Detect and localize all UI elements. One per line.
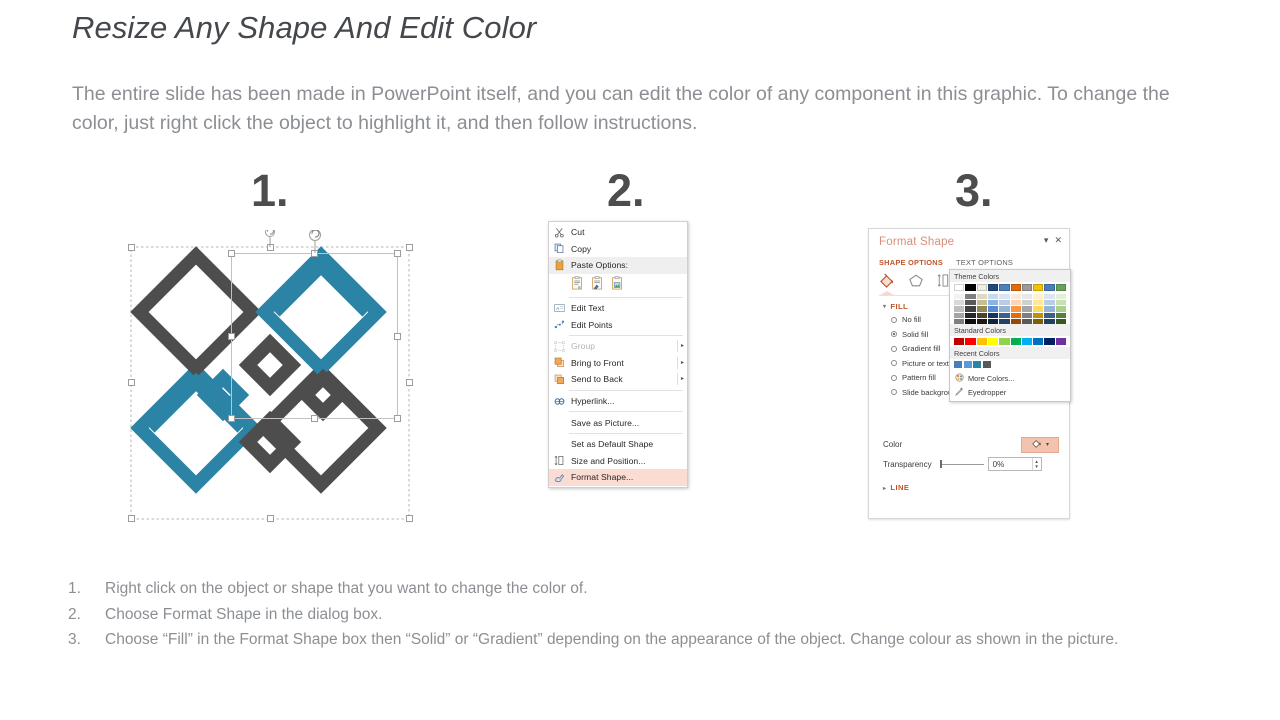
chevron-right-icon: ▸ <box>883 485 886 492</box>
menu-item-label: Copy <box>571 244 677 254</box>
theme-color-swatch[interactable] <box>1011 294 1021 299</box>
list-item: 3. Choose “Fill” in the Format Shape box… <box>68 627 1273 653</box>
standard-color-swatch[interactable] <box>977 338 987 345</box>
theme-color-swatch[interactable] <box>1056 306 1066 311</box>
menu-item-edit-points[interactable]: Edit Points ▸ <box>549 316 687 333</box>
paste-picture-icon[interactable] <box>611 276 624 292</box>
shape-graphic-selected[interactable] <box>120 230 420 525</box>
theme-color-swatch[interactable] <box>977 319 987 324</box>
menu-item-label: Paste Options: <box>571 260 677 270</box>
theme-colors-header: Theme Colors <box>950 270 1070 282</box>
tab-shape-options[interactable]: SHAPE OPTIONS <box>879 258 943 267</box>
theme-color-swatch[interactable] <box>1056 313 1066 318</box>
theme-color-swatch[interactable] <box>999 306 1009 311</box>
standard-color-swatch[interactable] <box>1022 338 1032 345</box>
theme-color-swatch[interactable] <box>999 300 1009 305</box>
theme-color-swatch[interactable] <box>988 300 998 305</box>
theme-color-swatch[interactable] <box>965 294 975 299</box>
recent-color-swatch[interactable] <box>954 361 962 368</box>
edit-points-icon <box>552 318 567 331</box>
standard-color-swatch[interactable] <box>1056 338 1066 345</box>
group-icon <box>552 340 567 353</box>
menu-item-label: Cut <box>571 227 677 237</box>
theme-color-swatch[interactable] <box>1033 313 1043 318</box>
menu-item-size-and-position[interactable]: Size and Position... ▸ <box>549 453 687 470</box>
menu-item-group[interactable]: Group ▸ <box>549 338 687 355</box>
theme-color-swatch[interactable] <box>1022 300 1032 305</box>
svg-text:a: a <box>578 285 581 289</box>
eyedropper-icon <box>954 387 964 398</box>
radio-label: Gradient fill <box>902 344 940 353</box>
theme-color-swatch[interactable] <box>977 306 987 311</box>
instruction-list: 1. Right click on the object or shape th… <box>68 576 1273 653</box>
menu-item-send-to-back[interactable]: Send to Back ▸ <box>549 371 687 388</box>
list-item-text: Choose Format Shape in the dialog box. <box>105 602 1273 628</box>
theme-color-swatch[interactable] <box>954 300 964 305</box>
theme-color-swatch[interactable] <box>988 313 998 318</box>
color-row[interactable]: Color ▾ <box>883 435 1059 454</box>
page-subtitle: The entire slide has been made in PowerP… <box>72 80 1217 138</box>
theme-color-swatch[interactable] <box>1011 306 1021 311</box>
theme-color-swatch[interactable] <box>954 284 964 291</box>
menu-separator <box>569 433 683 434</box>
menu-item-copy[interactable]: Copy ▸ <box>549 241 687 258</box>
line-section-header[interactable]: ▸LINE <box>883 483 909 492</box>
menu-separator <box>569 411 683 412</box>
page-title: Resize Any Shape And Edit Color <box>72 10 536 46</box>
theme-color-swatch[interactable] <box>965 313 975 318</box>
chevron-down-icon[interactable]: ▾ <box>1044 235 1049 246</box>
theme-color-swatch[interactable] <box>999 284 1009 291</box>
spinner-arrows[interactable]: ▲▼ <box>1032 458 1041 470</box>
menu-item-paste-options[interactable]: Paste Options: ▸ <box>549 257 687 274</box>
pentagon-effects-icon[interactable] <box>908 273 924 290</box>
step-number-3: 3. <box>955 168 993 213</box>
copy-icon <box>552 242 567 255</box>
radio-label: Pattern fill <box>902 373 936 382</box>
theme-color-swatch[interactable] <box>999 294 1009 299</box>
menu-item-edit-text[interactable]: A Edit Text ▸ <box>549 300 687 317</box>
menu-item-label: Save as Picture... <box>571 418 677 428</box>
standard-color-swatch[interactable] <box>988 338 998 345</box>
list-item-text: Choose “Fill” in the Format Shape box th… <box>105 627 1273 653</box>
menu-item-save-as-picture[interactable]: Save as Picture... ▸ <box>549 414 687 431</box>
theme-color-swatch[interactable] <box>1022 306 1032 311</box>
theme-color-swatch[interactable] <box>1056 319 1066 324</box>
theme-color-swatch[interactable] <box>1022 319 1032 324</box>
chevron-down-icon[interactable]: ▾ <box>1046 441 1049 448</box>
recent-color-swatch[interactable] <box>973 361 981 368</box>
size-position-icon <box>552 454 567 467</box>
hyperlink-icon <box>552 395 567 408</box>
theme-color-swatch[interactable] <box>999 313 1009 318</box>
menu-item-label: Set as Default Shape <box>571 439 677 449</box>
format-shape-pane[interactable]: Format Shape ▾ ✕ SHAPE OPTIONS TEXT OPTI… <box>868 228 1070 519</box>
menu-separator <box>569 335 683 336</box>
fill-bucket-icon[interactable] <box>879 273 896 290</box>
menu-item-set-as-default-shape[interactable]: Set as Default Shape ▸ <box>549 436 687 453</box>
step-number-2: 2. <box>607 168 645 213</box>
menu-item-label: Hyperlink... <box>571 396 677 406</box>
submenu-arrow-icon: ▸ <box>677 357 687 369</box>
standard-colors-grid[interactable] <box>950 336 1070 347</box>
transparency-spinner[interactable]: 0% ▲▼ <box>988 457 1042 471</box>
list-item: 1. Right click on the object or shape th… <box>68 576 1273 602</box>
list-item: 2. Choose Format Shape in the dialog box… <box>68 602 1273 628</box>
menu-item-eyedropper[interactable]: Eyedropper <box>950 385 1070 399</box>
recent-color-swatch[interactable] <box>964 361 972 368</box>
standard-color-swatch[interactable] <box>1011 338 1021 345</box>
step-number-1: 1. <box>251 168 289 213</box>
menu-item-label: More Colors... <box>968 374 1014 383</box>
theme-color-swatch[interactable] <box>1011 300 1021 305</box>
clipboard-icon <box>552 259 567 272</box>
theme-color-swatch[interactable] <box>1044 319 1054 324</box>
theme-color-swatch[interactable] <box>1033 306 1043 311</box>
theme-color-swatch[interactable] <box>954 306 964 311</box>
theme-colors-grid[interactable] <box>950 282 1070 324</box>
textbox-layout-icon[interactable] <box>936 273 950 290</box>
transparency-value[interactable]: 0% <box>989 460 1032 469</box>
radio-label: No fill <box>902 315 921 324</box>
submenu-arrow-icon: ▸ <box>677 340 687 352</box>
format-shape-tabs[interactable]: SHAPE OPTIONS TEXT OPTIONS <box>879 258 1013 267</box>
theme-color-swatch[interactable] <box>1056 300 1066 305</box>
menu-item-label: Edit Text <box>571 303 677 313</box>
menu-item-more-colors[interactable]: More Colors... <box>950 371 1070 385</box>
menu-item-label: Eyedropper <box>968 388 1006 397</box>
theme-color-swatch[interactable] <box>1011 313 1021 318</box>
menu-item-label: Send to Back <box>571 374 677 384</box>
recent-colors-row[interactable] <box>950 359 1070 371</box>
standard-colors-header: Standard Colors <box>950 324 1070 336</box>
theme-color-swatch[interactable] <box>1044 306 1054 311</box>
theme-color-swatch[interactable] <box>1033 294 1043 299</box>
color-picker-flyout[interactable]: Theme Colors Standard Colors Recent Colo… <box>949 269 1071 402</box>
menu-item-format-shape[interactable]: Format Shape... ▸ <box>549 469 687 486</box>
theme-color-swatch[interactable] <box>988 284 998 291</box>
standard-color-swatch[interactable] <box>954 338 964 345</box>
theme-color-swatch[interactable] <box>988 294 998 299</box>
standard-color-swatch[interactable] <box>999 338 1009 345</box>
theme-color-swatch[interactable] <box>1022 294 1032 299</box>
theme-color-swatch[interactable] <box>988 306 998 311</box>
theme-color-swatch[interactable] <box>1022 313 1032 318</box>
menu-item-label: Bring to Front <box>571 358 677 368</box>
fill-color-icon <box>1031 438 1043 451</box>
scissors-icon <box>552 226 567 239</box>
theme-color-swatch[interactable] <box>1044 313 1054 318</box>
format-shape-title: Format Shape <box>879 236 954 248</box>
paste-keep-text-icon[interactable]: a <box>571 276 584 292</box>
slider-handle[interactable] <box>940 460 942 468</box>
palette-icon <box>954 373 964 384</box>
format-shape-icon-row[interactable] <box>879 273 950 290</box>
theme-color-swatch[interactable] <box>1044 284 1054 291</box>
send-to-back-icon <box>552 373 567 386</box>
list-item-index: 3. <box>68 627 105 653</box>
theme-color-swatch[interactable] <box>965 306 975 311</box>
theme-color-swatch[interactable] <box>954 313 964 318</box>
menu-item-label: Edit Points <box>571 320 677 330</box>
close-icon[interactable]: ✕ <box>1054 235 1062 246</box>
menu-separator <box>569 297 683 298</box>
format-shape-icon <box>552 471 567 484</box>
color-label: Color <box>883 440 953 449</box>
list-item-index: 1. <box>68 576 105 602</box>
theme-color-swatch[interactable] <box>965 284 975 291</box>
theme-color-swatch[interactable] <box>1056 294 1066 299</box>
bring-to-front-icon <box>552 356 567 369</box>
theme-color-swatch[interactable] <box>954 319 964 324</box>
context-menu[interactable]: Cut ▸ Copy ▸ Paste Options: ▸ a A Edit T… <box>548 221 688 488</box>
paste-keep-formatting-icon[interactable] <box>591 276 604 292</box>
theme-color-swatch[interactable] <box>977 284 987 291</box>
transparency-row[interactable]: Transparency 0% ▲▼ <box>883 457 1059 471</box>
pane-window-buttons[interactable]: ▾ ✕ <box>1044 235 1062 246</box>
menu-separator <box>569 390 683 391</box>
theme-color-swatch[interactable] <box>977 294 987 299</box>
radio-label: Solid fill <box>902 330 928 339</box>
edit-text-icon: A <box>552 302 567 315</box>
standard-color-swatch[interactable] <box>1044 338 1054 345</box>
theme-color-swatch[interactable] <box>1033 284 1043 291</box>
theme-color-swatch[interactable] <box>965 300 975 305</box>
weave-overlaps <box>150 266 367 464</box>
menu-item-cut[interactable]: Cut ▸ <box>549 224 687 241</box>
theme-color-swatch[interactable] <box>1022 284 1032 291</box>
list-item-index: 2. <box>68 602 105 628</box>
theme-color-swatch[interactable] <box>977 313 987 318</box>
recent-color-swatch[interactable] <box>983 361 991 368</box>
theme-color-swatch[interactable] <box>1011 284 1021 291</box>
theme-color-swatch[interactable] <box>965 319 975 324</box>
theme-color-swatch[interactable] <box>954 294 964 299</box>
theme-color-swatch[interactable] <box>1044 300 1054 305</box>
theme-color-swatch[interactable] <box>1033 319 1043 324</box>
theme-color-swatch[interactable] <box>1033 300 1043 305</box>
theme-color-swatch[interactable] <box>1011 319 1021 324</box>
menu-item-hyperlink[interactable]: Hyperlink... ▸ <box>549 393 687 410</box>
recent-colors-header: Recent Colors <box>950 347 1070 359</box>
menu-item-label: Format Shape... <box>571 472 677 482</box>
diamond-top-left <box>139 255 252 368</box>
standard-color-swatch[interactable] <box>1033 338 1043 345</box>
theme-color-swatch[interactable] <box>977 300 987 305</box>
theme-color-swatch[interactable] <box>1056 284 1066 291</box>
submenu-arrow-icon: ▸ <box>677 373 687 385</box>
standard-color-swatch[interactable] <box>965 338 975 345</box>
theme-color-swatch[interactable] <box>999 319 1009 324</box>
chevron-down-icon: ▾ <box>883 303 886 310</box>
list-item-text: Right click on the object or shape that … <box>105 576 1273 602</box>
tab-text-options[interactable]: TEXT OPTIONS <box>956 258 1013 267</box>
transparency-label: Transparency <box>883 460 932 469</box>
menu-item-label: Group <box>571 341 677 351</box>
fill-color-button[interactable]: ▾ <box>1021 437 1059 453</box>
theme-color-swatch[interactable] <box>988 319 998 324</box>
fill-section-header[interactable]: ▾FILL <box>883 302 908 311</box>
theme-color-swatch[interactable] <box>1044 294 1054 299</box>
paste-options-icons[interactable]: a <box>549 274 687 295</box>
transparency-slider[interactable] <box>938 459 984 469</box>
menu-item-label: Size and Position... <box>571 456 677 466</box>
menu-item-bring-to-front[interactable]: Bring to Front ▸ <box>549 355 687 372</box>
